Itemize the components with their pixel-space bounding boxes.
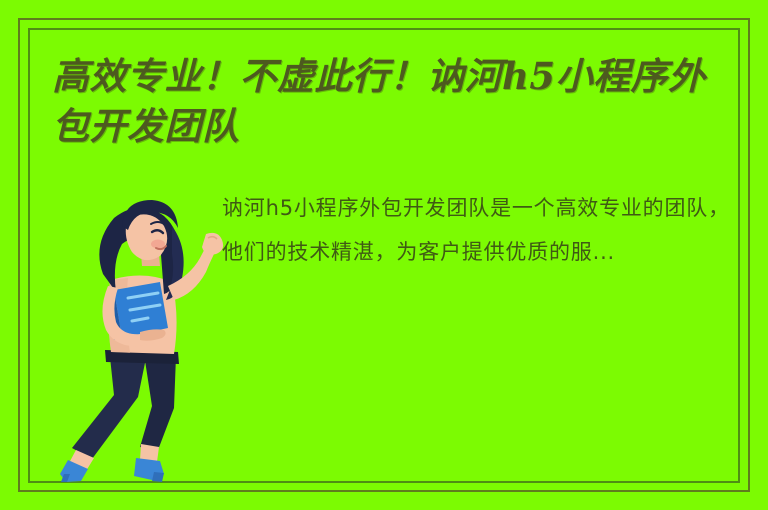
- illustration-woman-walking-with-book: [48, 182, 238, 482]
- body-text: 讷河h5小程序外包开发团队是一个高效专业的团队，他们的技术精湛，为客户提供优质的…: [222, 186, 732, 274]
- poster-card: 高效专业！不虚此行！讷河h5小程序外包开发团队 讷河h5小程序外包开发团队是一个…: [0, 0, 768, 510]
- page-title: 高效专业！不虚此行！讷河h5小程序外包开发团队: [52, 52, 724, 151]
- front-leg: [140, 354, 176, 450]
- cheek-blush: [151, 240, 165, 249]
- front-shoe-heel: [152, 472, 164, 482]
- back-leg: [72, 357, 146, 459]
- illustration-svg: [48, 182, 238, 482]
